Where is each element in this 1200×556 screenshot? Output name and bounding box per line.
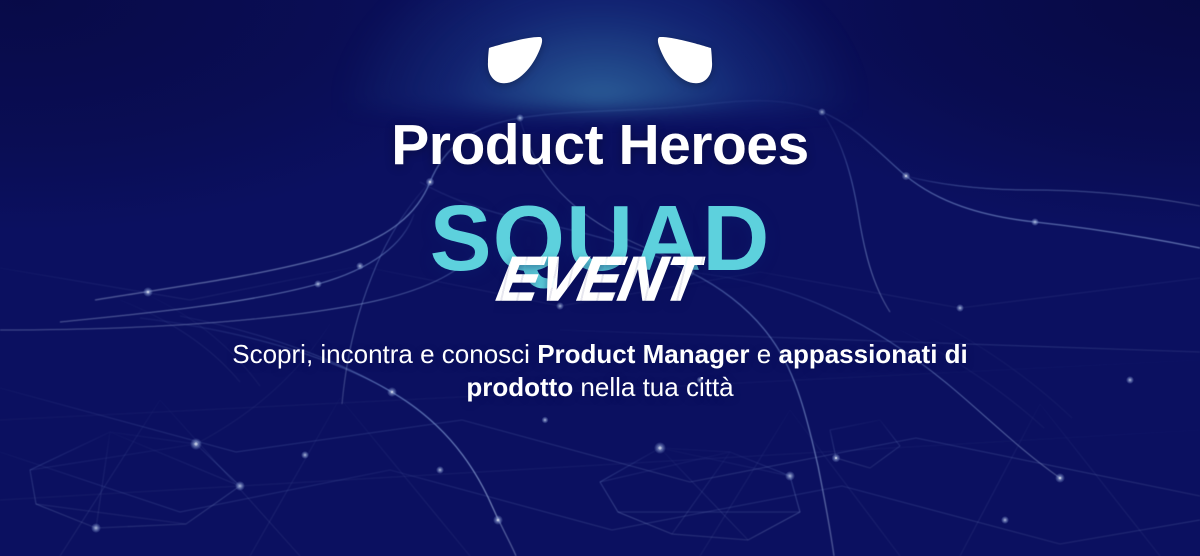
headline-group: SQUAD EVENT <box>390 192 810 322</box>
angry-eye-right-icon <box>653 34 715 90</box>
subtitle-part1: Scopri, incontra e conosci <box>232 339 537 369</box>
page-title: Product Heroes <box>391 112 808 178</box>
angry-eye-left-icon <box>485 34 547 90</box>
subtitle-part2: e <box>750 339 779 369</box>
subtitle-part3: nella tua città <box>573 372 733 402</box>
event-banner: Product Heroes SQUAD EVENT Scopri, incon… <box>0 0 1200 556</box>
banner-content: Product Heroes SQUAD EVENT Scopri, incon… <box>0 0 1200 556</box>
subtitle: Scopri, incontra e conosci Product Manag… <box>180 338 1020 405</box>
subtitle-bold1: Product Manager <box>537 339 749 369</box>
hero-eyes <box>485 34 715 92</box>
headline-event: EVENT <box>492 244 708 315</box>
